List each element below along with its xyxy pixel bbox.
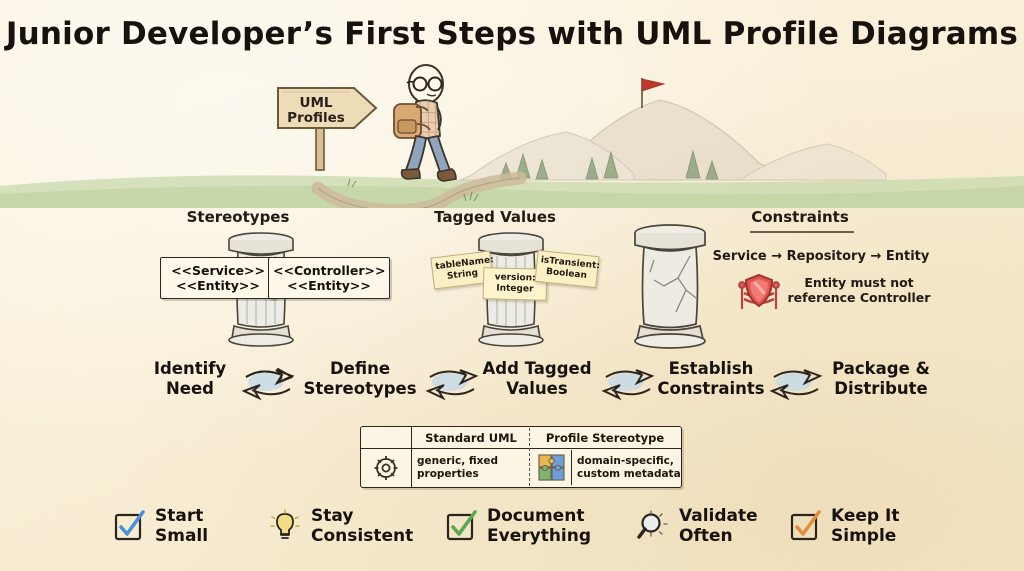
step-line-2: Stereotypes (290, 379, 430, 399)
shield-barrier-icon (736, 271, 782, 313)
step-line-1: Define (290, 359, 430, 379)
section-label-constraints: Constraints (700, 208, 900, 226)
constraints-underline (750, 231, 854, 233)
puzzle-pieces-icon (537, 453, 567, 483)
tip-validate-often: Validate Often (636, 506, 758, 546)
process-step-2: Define Stereotypes (290, 359, 430, 399)
gear-icon (370, 453, 402, 483)
cycle-arrow-icon-1 (240, 363, 296, 401)
hero-scene (0, 58, 1024, 208)
cell-line-1: generic, fixed (417, 455, 527, 468)
tip-line-1: Keep It (831, 506, 899, 526)
tip-document-everything: Document Everything (444, 506, 591, 546)
section-label-tagged-values: Tagged Values (400, 208, 590, 226)
stereotype-line-1: <<Controller>> (273, 263, 385, 278)
step-line-2: Values (462, 379, 612, 399)
step-line-2: Need (130, 379, 250, 399)
tip-line-1: Start (155, 506, 208, 526)
tip-label: Document Everything (487, 506, 591, 546)
tip-start-small: Start Small (112, 506, 208, 546)
signpost: UML Profiles (272, 82, 382, 172)
hiker-with-backpack-icon (382, 62, 472, 202)
process-step-5: Package & Distribute (806, 359, 956, 399)
tip-line-1: Validate (679, 506, 758, 526)
tip-label: Keep It Simple (831, 506, 899, 546)
step-line-2: Distribute (806, 379, 956, 399)
tip-line-1: Stay (311, 506, 413, 526)
tip-stay-consistent: Stay Consistent (268, 506, 413, 546)
tips-row: Start Small Stay Consistent (0, 498, 1024, 560)
signpost-label: UML Profiles (284, 96, 348, 126)
profile-inner-divider (571, 450, 572, 485)
checkbox-checked-icon (444, 509, 478, 543)
cell-standard-uml-description: generic, fixed properties (417, 455, 527, 480)
process-step-4: Establish Constraints (636, 359, 786, 399)
process-steps: Identify Need Define Stereotypes Add Tag… (0, 355, 1024, 417)
checkbox-checked-icon (112, 509, 146, 543)
tip-label: Stay Consistent (311, 506, 413, 546)
tag-type: Integer (487, 283, 543, 295)
step-line-1: Package & (806, 359, 956, 379)
magnifying-glass-icon (636, 509, 670, 543)
step-line-1: Identify (130, 359, 250, 379)
process-step-3: Add Tagged Values (462, 359, 612, 399)
cell-line-2: properties (417, 468, 527, 481)
section-label-stereotypes: Stereotypes (168, 208, 308, 226)
step-line-2: Constraints (636, 379, 786, 399)
stereotype-box-service: <<Service>> <<Entity>> (160, 257, 276, 299)
process-step-1: Identify Need (130, 359, 250, 399)
cell-line-2: custom metadata (577, 468, 681, 481)
page-title: Junior Developer’s First Steps with UML … (0, 16, 1024, 52)
tip-line-2: Simple (831, 526, 899, 546)
checkbox-checked-icon (788, 509, 822, 543)
cracked-stone-pillar-icon (620, 220, 720, 354)
lightbulb-icon (268, 509, 302, 543)
tip-line-2: Everything (487, 526, 591, 546)
cell-line-1: domain-specific, (577, 455, 681, 468)
cell-profile-stereotype-description: domain-specific, custom metadata (577, 455, 681, 480)
constraint-note-line: Entity must not reference Controller (784, 275, 934, 305)
step-line-1: Establish (636, 359, 786, 379)
infographic-board: Junior Developer’s First Steps with UML … (0, 0, 1024, 571)
tip-label: Validate Often (679, 506, 758, 546)
stereotype-line-2: <<Entity>> (273, 278, 385, 293)
tagged-value-note-istransient: isTransient: Boolean (534, 250, 599, 288)
tip-line-2: Often (679, 526, 758, 546)
constraint-rule-text: Service → Repository → Entity (706, 249, 936, 264)
tip-label: Start Small (155, 506, 208, 546)
stereotype-line-1: <<Service>> (165, 263, 271, 278)
tip-line-2: Consistent (311, 526, 413, 546)
tip-keep-it-simple: Keep It Simple (788, 506, 899, 546)
step-line-1: Add Tagged (462, 359, 612, 379)
stereotype-box-controller: <<Controller>> <<Entity>> (268, 257, 390, 299)
tip-line-2: Small (155, 526, 208, 546)
signpost-line-2: Profiles (284, 111, 348, 126)
signpost-line-1: UML (284, 96, 348, 111)
constraint-note-text: Entity must not reference Controller (784, 275, 934, 305)
column-header-standard-uml: Standard UML (415, 431, 527, 445)
column-divider (529, 428, 530, 486)
tip-line-1: Document (487, 506, 591, 526)
column-header-profile-stereotype: Profile Stereotype (533, 431, 677, 445)
comparison-table: Standard UML Profile Stereotype generic,… (360, 426, 682, 488)
stereotype-line-2: <<Entity>> (165, 278, 271, 293)
